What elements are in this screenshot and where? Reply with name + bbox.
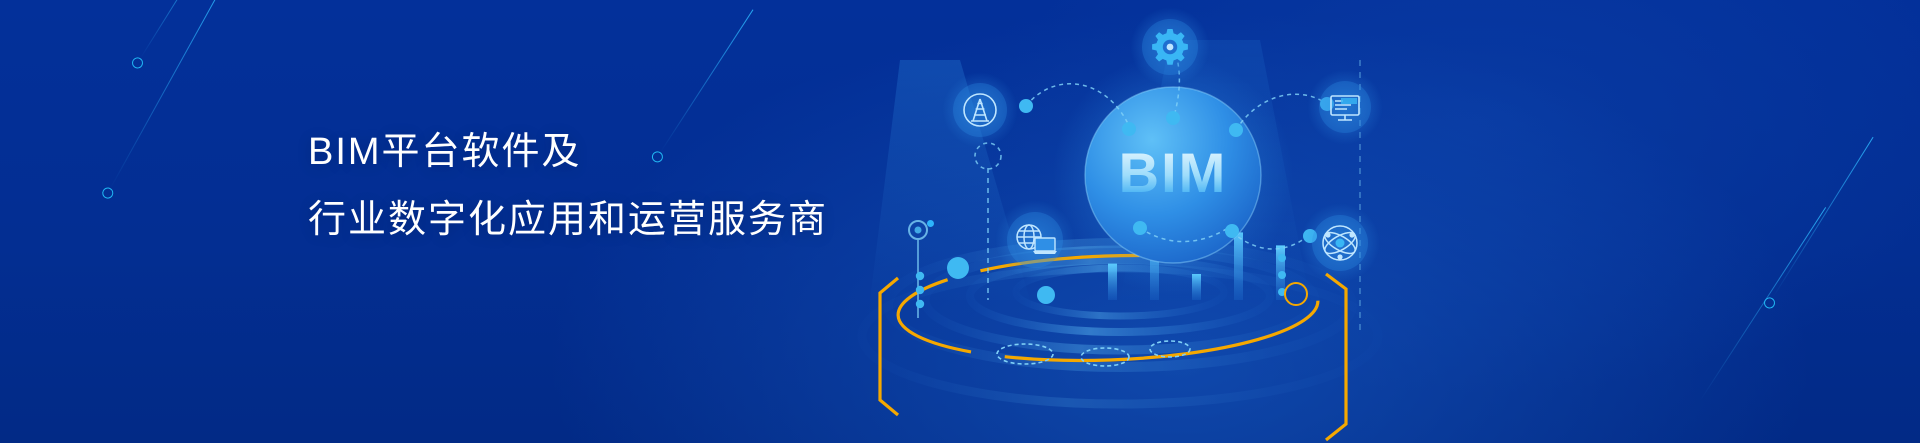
decor-comet-line xyxy=(1772,137,1874,299)
decor-dot-column-left xyxy=(916,272,924,308)
comet-trail xyxy=(110,0,222,188)
decor-comet-line xyxy=(110,0,222,188)
comet-trail xyxy=(1772,137,1874,299)
node-disc xyxy=(953,83,1007,137)
hero-banner: BIM平台软件及 行业数字化应用和运营服务商 xyxy=(0,0,1920,443)
page-title: BIM平台软件及 行业数字化应用和运营服务商 xyxy=(308,118,828,254)
bim-sphere-label: BIM xyxy=(1119,141,1228,204)
node-globe-laptop-icon xyxy=(995,200,1075,280)
decor-dot xyxy=(1278,254,1286,262)
laptop-icon xyxy=(1033,238,1057,254)
bim-hero-illustration: BIM xyxy=(840,0,1400,443)
decor-comet-line xyxy=(140,0,204,59)
decor-comet-line xyxy=(1700,207,1826,400)
node-disc xyxy=(1319,81,1371,133)
decor-dot xyxy=(1278,271,1286,279)
node-power-tower-icon xyxy=(942,72,1018,148)
gear-icon xyxy=(1152,29,1188,65)
node-monitor-icon xyxy=(1307,69,1383,145)
comet-endpoint-circle xyxy=(130,55,145,70)
monitor-screen-fill xyxy=(1341,98,1357,104)
yellow-ring-icon xyxy=(1284,282,1308,306)
comet-trail xyxy=(1700,207,1826,400)
node-gear-icon xyxy=(1130,7,1210,87)
headline-line-2: 行业数字化应用和运营服务商 xyxy=(308,186,828,254)
comet-trail xyxy=(140,0,204,59)
bracket-right xyxy=(1320,272,1364,442)
headline-line-1: BIM平台软件及 xyxy=(308,131,582,173)
comet-endpoint-circle xyxy=(100,186,115,201)
node-network-icon xyxy=(1300,203,1380,283)
